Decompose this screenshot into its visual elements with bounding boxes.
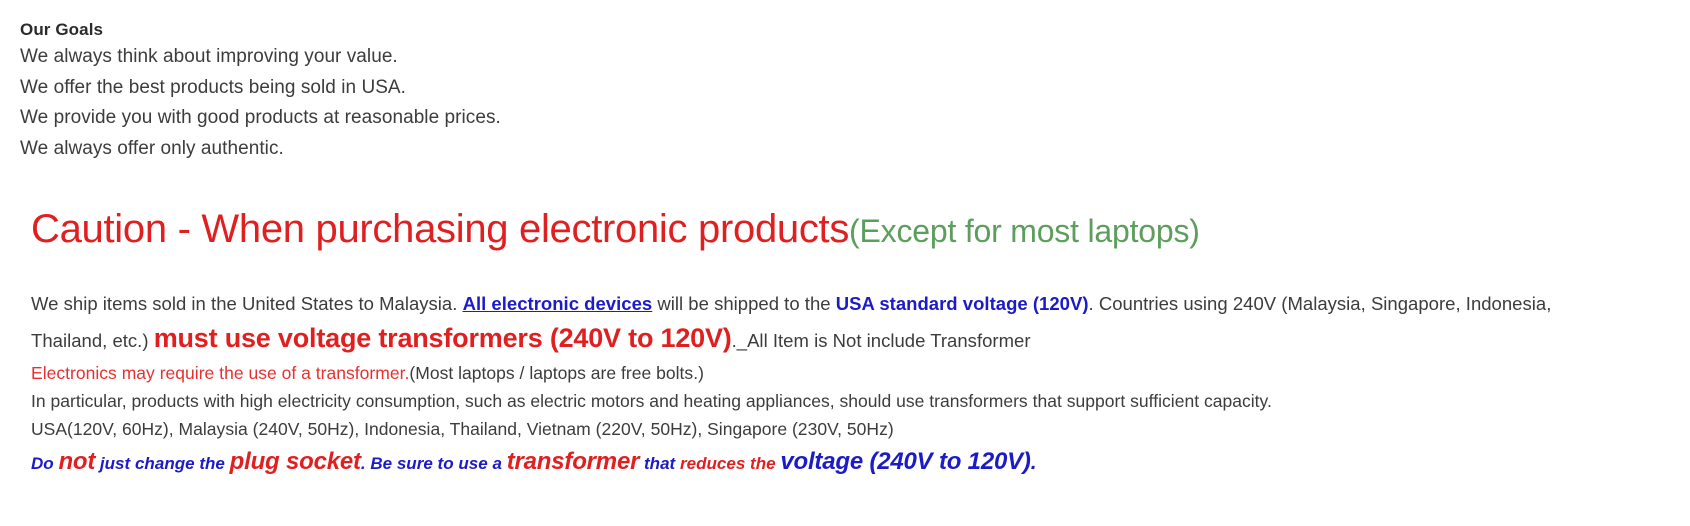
final-warning-voltage-range: voltage (240V to 120V): [780, 448, 1030, 475]
notice-line-6-final-warning: Do not just change the plug socket. Be s…: [31, 445, 1690, 481]
notice-line-1-text-c: . Countries using 240V (Malaysia, Singap…: [1089, 293, 1552, 314]
notice-line-5-voltage-list: USA(120V, 60Hz), Malaysia (240V, 50Hz), …: [31, 415, 1690, 443]
our-goals-title: Our Goals: [20, 18, 1220, 42]
all-electronic-devices-link[interactable]: All electronic devices: [463, 293, 653, 314]
final-warning-reduces-the: reduces the: [680, 454, 780, 473]
our-goals-section: Our Goals We always think about improvin…: [20, 18, 1220, 164]
must-use-voltage-transformers-emphasis: must use voltage transformers (240V to 1…: [154, 323, 732, 353]
final-warning-plug-socket: plug socket: [230, 448, 361, 475]
final-warning-that: that: [639, 454, 680, 473]
notice-line-1-text-b: will be shipped to the: [652, 293, 836, 314]
goal-line-1: We always think about improving your val…: [20, 42, 1220, 73]
page-root: Our Goals We always think about improvin…: [0, 0, 1690, 526]
final-warning-just-change-the: just change the: [95, 454, 229, 473]
notice-line-2-text-b: ._All Item is Not include Transformer: [732, 330, 1031, 351]
final-warning-transformer: transformer: [507, 448, 640, 475]
caution-heading-main: Caution - When purchasing electronic pro…: [31, 207, 849, 251]
final-warning-do: Do: [31, 454, 58, 473]
notice-line-2: Thailand, etc.) must use voltage transfo…: [31, 319, 1690, 360]
laptops-free-bolts-note: (Most laptops / laptops are free bolts.): [409, 363, 704, 383]
notice-line-2-text-a: Thailand, etc.): [31, 330, 154, 351]
final-warning-period: .: [1031, 451, 1037, 474]
final-warning-not: not: [58, 448, 95, 475]
notice-line-1: We ship items sold in the United States …: [31, 288, 1690, 319]
caution-heading-exception: (Except for most laptops): [849, 213, 1200, 249]
shipping-notice-block: We ship items sold in the United States …: [31, 288, 1690, 481]
goal-line-2: We offer the best products being sold in…: [20, 73, 1220, 104]
notice-line-4: In particular, products with high electr…: [31, 387, 1690, 415]
goal-line-4: We always offer only authentic.: [20, 134, 1220, 165]
final-warning-be-sure-to-use-a: . Be sure to use a: [361, 454, 507, 473]
caution-heading: Caution - When purchasing electronic pro…: [31, 207, 1200, 252]
transformer-required-warning: Electronics may require the use of a tra…: [31, 363, 409, 383]
notice-line-1-text-a: We ship items sold in the United States …: [31, 293, 463, 314]
usa-standard-voltage-emphasis: USA standard voltage (120V): [836, 293, 1089, 314]
notice-line-3: Electronics may require the use of a tra…: [31, 360, 1690, 387]
goal-line-3: We provide you with good products at rea…: [20, 103, 1220, 134]
